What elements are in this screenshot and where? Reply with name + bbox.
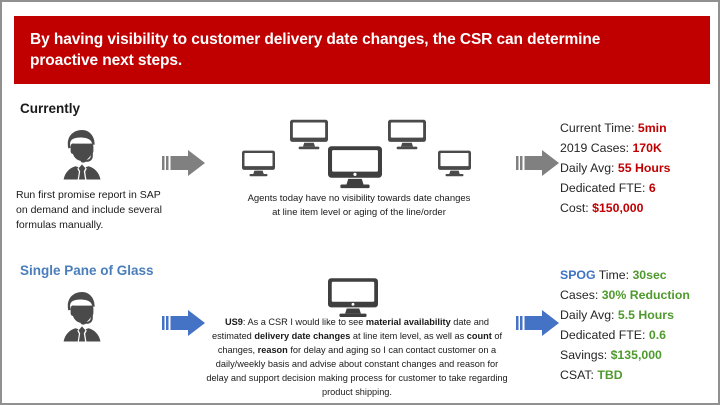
metric-value: 5.5 Hours bbox=[618, 308, 674, 322]
metric-value: 30% Reduction bbox=[602, 288, 690, 302]
metric-row: Daily Avg: 55 Hours bbox=[560, 159, 671, 179]
arrow-right-gray-icon bbox=[162, 147, 206, 184]
csr-headset-icon bbox=[49, 126, 115, 182]
metric-label: Cost: bbox=[560, 201, 592, 215]
metric-label: Savings: bbox=[560, 348, 611, 362]
currently-center-caption-line1: Agents today have no visibility towards … bbox=[248, 193, 471, 204]
section-label-spog: Single Pane of Glass bbox=[20, 263, 154, 278]
metric-value: 55 Hours bbox=[618, 161, 671, 175]
metric-value: $150,000 bbox=[592, 201, 643, 215]
currently-metrics-list: Current Time: 5min 2019 Cases: 170K Dail… bbox=[560, 119, 671, 219]
metric-label: Current Time: bbox=[560, 121, 638, 135]
currently-center-caption: Agents today have no visibility towards … bbox=[240, 192, 478, 220]
metric-label: Time: bbox=[596, 268, 633, 282]
metric-value: $135,000 bbox=[611, 348, 662, 362]
metric-row: SPOG Time: 30sec bbox=[560, 266, 690, 286]
metric-value: 0.6 bbox=[649, 328, 666, 342]
metric-row: CSAT: TBD bbox=[560, 366, 690, 386]
spog-user-story-text: US9: As a CSR I would like to see materi… bbox=[204, 316, 510, 400]
currently-center-caption-line2: at line item level or aging of the line/… bbox=[272, 207, 446, 218]
metric-label: Cases: bbox=[560, 288, 602, 302]
metric-row: Dedicated FTE: 0.6 bbox=[560, 326, 690, 346]
metric-row: Savings: $135,000 bbox=[560, 346, 690, 366]
metric-label: Dedicated FTE: bbox=[560, 328, 649, 342]
monitor-icon bbox=[290, 118, 328, 155]
arrow-right-gray-icon bbox=[516, 147, 560, 184]
metric-prefix: SPOG bbox=[560, 268, 596, 282]
monitor-icon bbox=[438, 149, 471, 182]
csr-headset-icon bbox=[49, 288, 115, 344]
monitor-icon bbox=[388, 118, 426, 155]
page-title: By having visibility to customer deliver… bbox=[30, 30, 670, 72]
arrow-right-blue-icon bbox=[516, 307, 560, 344]
metric-row: Cases: 30% Reduction bbox=[560, 286, 690, 306]
metric-value: 30sec bbox=[632, 268, 666, 282]
monitor-icon bbox=[328, 144, 382, 194]
arrow-right-blue-icon bbox=[162, 307, 206, 344]
metric-label: Daily Avg: bbox=[560, 161, 618, 175]
metric-value: 170K bbox=[632, 141, 661, 155]
spog-story-id: US9 bbox=[225, 317, 243, 327]
metric-row: 2019 Cases: 170K bbox=[560, 139, 671, 159]
metric-row: Daily Avg: 5.5 Hours bbox=[560, 306, 690, 326]
metric-row: Cost: $150,000 bbox=[560, 199, 671, 219]
spog-metrics-list: SPOG Time: 30sec Cases: 30% Reduction Da… bbox=[560, 266, 690, 385]
metric-value: 6 bbox=[649, 181, 656, 195]
metric-label: CSAT: bbox=[560, 368, 597, 382]
section-label-currently: Currently bbox=[20, 101, 80, 116]
monitor-icon bbox=[242, 149, 275, 182]
header-banner: By having visibility to customer deliver… bbox=[14, 16, 710, 84]
currently-left-caption: Run first promise report in SAP on deman… bbox=[16, 188, 166, 234]
metric-label: Dedicated FTE: bbox=[560, 181, 649, 195]
metric-label: Daily Avg: bbox=[560, 308, 618, 322]
spog-story-body: : As a CSR I would like to see material … bbox=[206, 317, 507, 397]
metric-value: 5min bbox=[638, 121, 667, 135]
metric-row: Current Time: 5min bbox=[560, 119, 671, 139]
metric-value: TBD bbox=[597, 368, 622, 382]
slide-canvas: By having visibility to customer deliver… bbox=[0, 0, 720, 405]
metric-row: Dedicated FTE: 6 bbox=[560, 179, 671, 199]
monitors-cluster bbox=[230, 112, 490, 187]
metric-label: 2019 Cases: bbox=[560, 141, 632, 155]
